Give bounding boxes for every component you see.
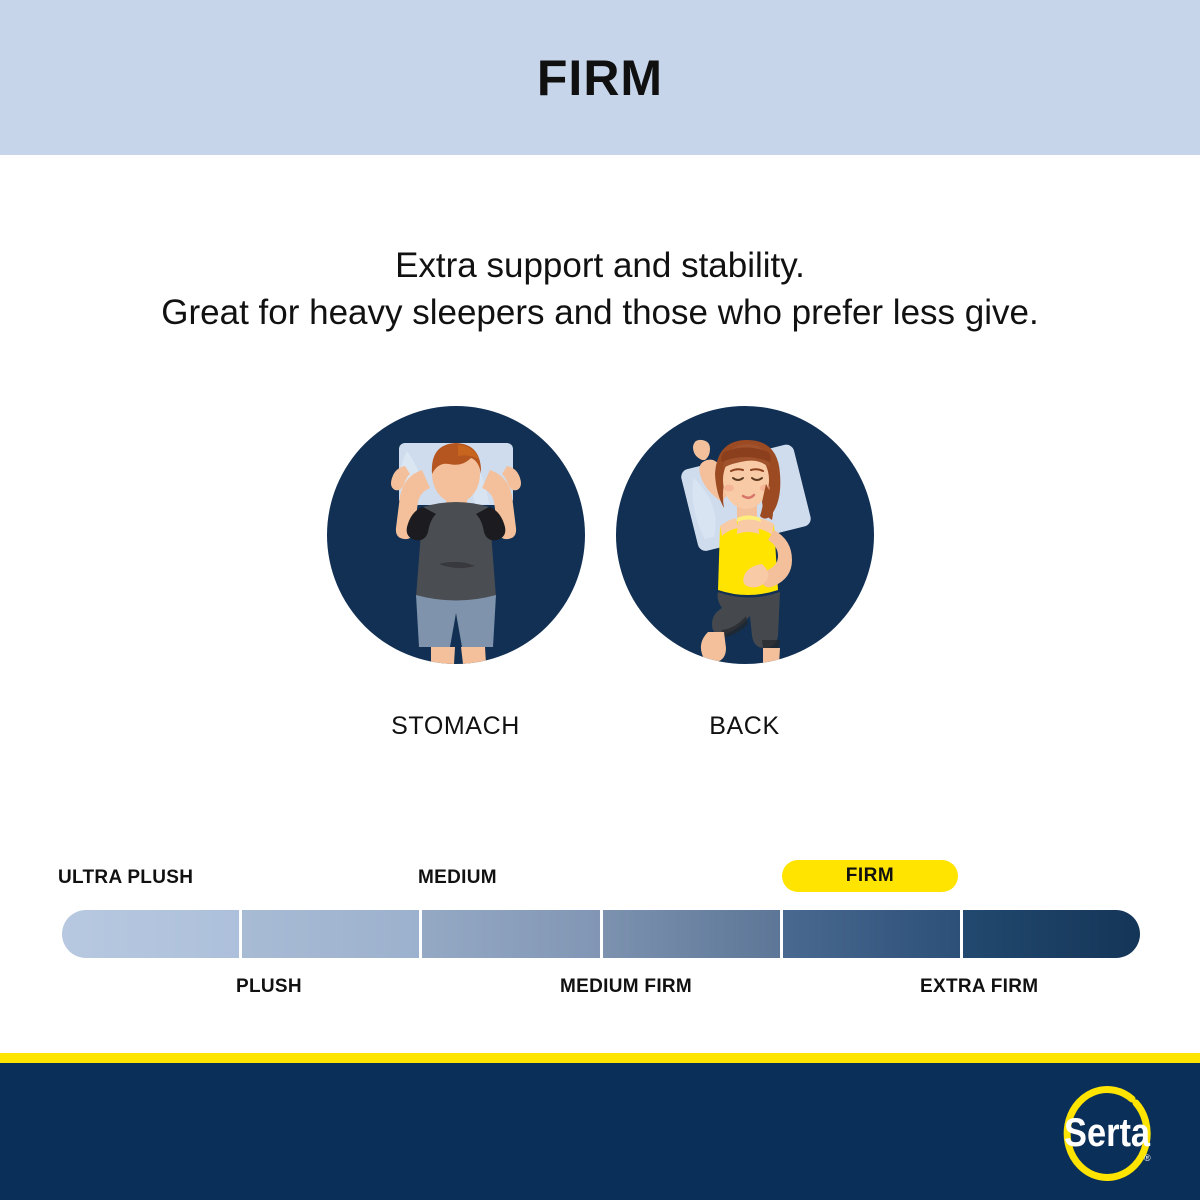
person-sleeping-on-stomach-icon (327, 406, 585, 664)
scale-label-medium: MEDIUM (418, 867, 497, 889)
scale-label-ultra-plush: ULTRA PLUSH (58, 867, 193, 889)
stomach-sleeper-circle (327, 406, 585, 664)
firmness-infographic: FIRM Extra support and stability. Great … (0, 0, 1200, 1200)
sleep-position-label-stomach: STOMACH (327, 712, 585, 741)
subtitle: Extra support and stability. Great for h… (0, 243, 1200, 337)
scale-selected-badge-firm[interactable]: FIRM (782, 860, 958, 892)
sleep-position-stomach: STOMACH (327, 406, 585, 741)
serta-trademark: ® (1144, 1153, 1151, 1163)
scale-label-extra-firm: EXTRA FIRM (920, 976, 1038, 998)
firmness-segment-plush[interactable] (242, 910, 419, 958)
subtitle-line-1: Extra support and stability. (0, 243, 1200, 290)
scale-label-medium-firm: MEDIUM FIRM (560, 976, 692, 998)
serta-logo-icon: Serta ® (1058, 1085, 1158, 1181)
page-title: FIRM (537, 53, 663, 103)
firmness-segment-ultra-plush[interactable] (62, 910, 239, 958)
firmness-segment-extra-firm[interactable] (963, 910, 1140, 958)
footer-band: Serta ® (0, 1063, 1200, 1200)
firmness-segment-medium[interactable] (422, 910, 599, 958)
serta-wordmark: Serta (1064, 1110, 1150, 1155)
serta-logo[interactable]: Serta ® (1058, 1085, 1158, 1181)
back-sleeper-circle (616, 406, 874, 664)
firmness-bar (62, 910, 1140, 958)
firmness-segment-firm[interactable] (783, 910, 960, 958)
subtitle-line-2: Great for heavy sleepers and those who p… (0, 290, 1200, 337)
header-band: FIRM (0, 0, 1200, 155)
sleep-position-back: BACK (616, 406, 874, 741)
footer-accent-rule (0, 1053, 1200, 1063)
scale-label-plush: PLUSH (236, 976, 302, 998)
firmness-segment-medium-firm[interactable] (603, 910, 780, 958)
person-sleeping-on-back-icon (616, 406, 874, 664)
firmness-scale: ULTRA PLUSH MEDIUM FIRM PLUSH MEDIUM FIR… (0, 860, 1200, 1010)
sleep-positions: STOMACH (0, 406, 1200, 741)
scale-selected-badge-label: FIRM (846, 865, 894, 887)
sleep-position-label-back: BACK (616, 712, 874, 741)
